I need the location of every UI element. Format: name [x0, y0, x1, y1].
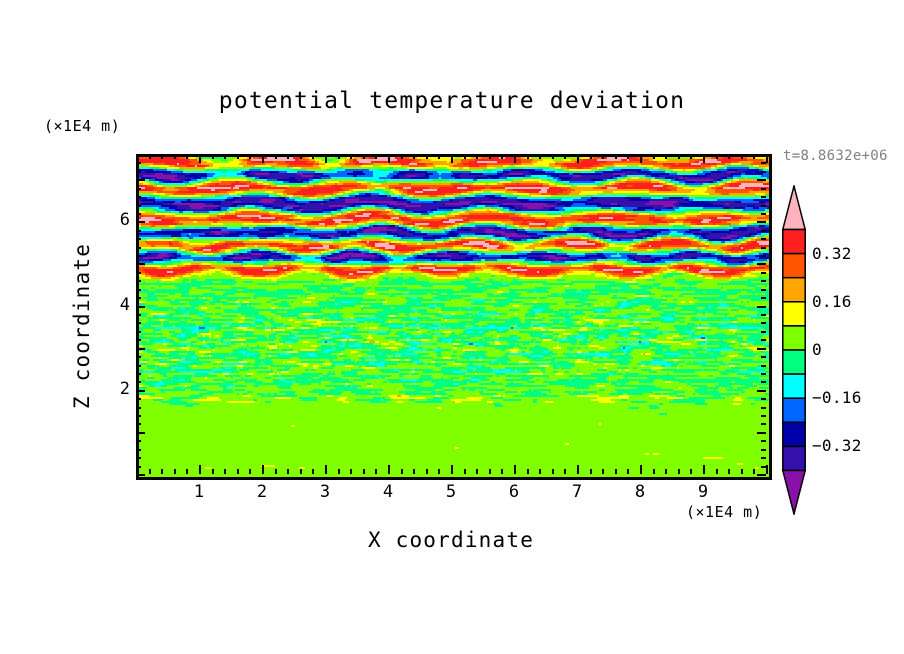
x-tick-top [501, 154, 503, 159]
colorbar-tick-label: 0.32 [812, 244, 852, 263]
x-tick [224, 469, 226, 474]
y-tick-right [757, 179, 766, 181]
x-tick [212, 469, 214, 474]
y-tick [136, 263, 145, 265]
x-tick [300, 469, 302, 474]
x-tick [199, 465, 201, 474]
x-tick-top [577, 154, 579, 163]
x-tick [577, 465, 579, 474]
colorbar-tick-label: −0.16 [812, 388, 862, 407]
x-tick [312, 469, 314, 474]
x-tick [237, 469, 239, 474]
y-tick-right [761, 423, 766, 425]
x-tick-top [186, 154, 188, 159]
x-axis-unit-label: (×1E4 m) [686, 503, 762, 521]
x-tick-top [678, 154, 680, 159]
x-tick-top [224, 154, 226, 159]
y-tick-right [757, 263, 766, 265]
y-tick-right [757, 474, 766, 476]
x-tick [401, 469, 403, 474]
x-tick-top [174, 154, 176, 159]
x-tick [640, 465, 642, 474]
y-tick [136, 398, 141, 400]
x-tick-label: 4 [373, 482, 403, 502]
y-tick [136, 297, 141, 299]
y-tick [136, 356, 141, 358]
x-tick [678, 469, 680, 474]
x-tick [375, 469, 377, 474]
y-tick-label: 4 [104, 295, 130, 315]
x-tick-top [375, 154, 377, 159]
y-tick [136, 466, 141, 468]
x-tick-top [489, 154, 491, 159]
x-tick [539, 469, 541, 474]
y-tick [136, 331, 141, 333]
z-axis-unit-label: (×1E4 m) [44, 117, 120, 135]
x-tick-top [388, 154, 390, 163]
y-tick [136, 205, 141, 207]
x-tick-top [312, 154, 314, 159]
x-tick [325, 465, 327, 474]
y-tick [136, 339, 141, 341]
x-tick [350, 469, 352, 474]
x-tick-label: 6 [499, 482, 529, 502]
x-tick [615, 469, 617, 474]
x-tick [602, 469, 604, 474]
y-tick-right [761, 205, 766, 207]
y-tick [136, 432, 145, 434]
y-tick-right [761, 322, 766, 324]
y-tick [136, 423, 141, 425]
x-tick [665, 469, 667, 474]
x-tick-top [653, 154, 655, 159]
x-tick-top [690, 154, 692, 159]
x-tick [741, 469, 743, 474]
y-tick [136, 314, 141, 316]
x-tick [161, 469, 163, 474]
x-tick-top [464, 154, 466, 159]
y-tick-right [761, 238, 766, 240]
x-tick-top [275, 154, 277, 159]
y-tick [136, 255, 141, 257]
y-tick-right [761, 457, 766, 459]
y-tick-right [757, 432, 766, 434]
x-tick [527, 469, 529, 474]
x-tick [262, 465, 264, 474]
y-tick [136, 179, 145, 181]
y-tick-right [761, 272, 766, 274]
x-tick [413, 469, 415, 474]
y-tick-right [757, 390, 766, 392]
x-tick-label: 7 [562, 482, 592, 502]
y-tick [136, 247, 141, 249]
x-tick-top [212, 154, 214, 159]
x-tick-top [287, 154, 289, 159]
x-tick-top [426, 154, 428, 159]
x-tick-top [590, 154, 592, 159]
x-tick-top [728, 154, 730, 159]
x-tick-top [363, 154, 365, 159]
y-tick [136, 449, 141, 451]
y-tick-right [761, 356, 766, 358]
x-tick [426, 469, 428, 474]
x-tick-top [149, 154, 151, 159]
y-tick [136, 306, 145, 308]
scalar-field-heatmap [139, 157, 769, 477]
y-tick [136, 162, 141, 164]
y-tick [136, 213, 141, 215]
x-tick-label: 2 [247, 482, 277, 502]
x-tick-top [325, 154, 327, 163]
x-tick [363, 469, 365, 474]
y-axis-title: Z coordinate [70, 226, 94, 426]
x-tick-top [438, 154, 440, 159]
y-tick [136, 221, 145, 223]
y-tick [136, 474, 145, 476]
y-tick-right [757, 221, 766, 223]
page-title: potential temperature deviation [0, 88, 904, 114]
x-tick [249, 469, 251, 474]
y-tick [136, 365, 141, 367]
y-tick-right [761, 247, 766, 249]
x-tick-top [199, 154, 201, 163]
y-tick [136, 272, 141, 274]
x-tick [501, 469, 503, 474]
x-tick-label: 5 [436, 482, 466, 502]
x-tick-label: 3 [310, 482, 340, 502]
x-tick-label: 1 [184, 482, 214, 502]
plot-area[interactable] [136, 154, 772, 480]
x-tick [275, 469, 277, 474]
x-tick [338, 469, 340, 474]
x-tick-top [476, 154, 478, 159]
y-tick-right [757, 306, 766, 308]
x-tick-top [401, 154, 403, 159]
x-tick-top [300, 154, 302, 159]
x-tick-top [766, 154, 768, 163]
y-tick-right [761, 331, 766, 333]
x-tick [728, 469, 730, 474]
x-tick [476, 469, 478, 474]
y-tick [136, 289, 141, 291]
y-tick [136, 322, 141, 324]
colorbar[interactable] [780, 185, 808, 515]
y-tick-right [761, 289, 766, 291]
y-tick-right [761, 188, 766, 190]
x-tick-label: 8 [625, 482, 655, 502]
x-tick [590, 469, 592, 474]
x-tick [388, 465, 390, 474]
colorbar-tick-label: 0.16 [812, 292, 852, 311]
x-tick [627, 469, 629, 474]
y-tick [136, 196, 141, 198]
x-tick-top [741, 154, 743, 159]
x-tick [514, 465, 516, 474]
y-tick [136, 390, 145, 392]
y-tick-right [761, 213, 766, 215]
x-tick-top [527, 154, 529, 159]
x-tick [703, 465, 705, 474]
y-tick-right [761, 381, 766, 383]
y-tick-right [761, 280, 766, 282]
y-tick-label: 2 [104, 379, 130, 399]
x-tick [186, 469, 188, 474]
x-tick [464, 469, 466, 474]
y-tick-right [761, 398, 766, 400]
y-tick-right [761, 407, 766, 409]
x-tick-top [640, 154, 642, 163]
y-tick-right [761, 297, 766, 299]
x-tick-top [262, 154, 264, 163]
y-tick-right [761, 171, 766, 173]
y-tick [136, 280, 141, 282]
x-tick-label: 9 [688, 482, 718, 502]
colorbar-gradient [780, 185, 808, 515]
time-annotation: t=8.8632e+06 [783, 148, 888, 164]
y-tick-right [761, 440, 766, 442]
x-tick-top [665, 154, 667, 159]
x-tick [766, 465, 768, 474]
y-tick-right [761, 415, 766, 417]
x-tick-top [716, 154, 718, 159]
x-tick-top [350, 154, 352, 159]
x-tick [438, 469, 440, 474]
x-tick-top [539, 154, 541, 159]
y-tick [136, 238, 141, 240]
x-tick [451, 465, 453, 474]
y-tick-right [761, 154, 766, 156]
x-tick-top [161, 154, 163, 159]
x-tick-top [237, 154, 239, 159]
y-tick [136, 188, 141, 190]
y-tick [136, 381, 141, 383]
y-tick [136, 440, 141, 442]
x-tick [564, 469, 566, 474]
x-tick-top [413, 154, 415, 159]
y-tick-right [761, 339, 766, 341]
y-tick-right [761, 314, 766, 316]
x-tick-top [564, 154, 566, 159]
y-tick [136, 415, 141, 417]
y-tick [136, 171, 141, 173]
contour-plot-figure: potential temperature deviation (×1E4 m)… [0, 0, 904, 654]
x-tick-top [753, 154, 755, 159]
x-tick-top [338, 154, 340, 159]
x-tick [287, 469, 289, 474]
y-tick-right [761, 230, 766, 232]
x-tick-top [552, 154, 554, 159]
x-tick [716, 469, 718, 474]
x-tick-top [451, 154, 453, 163]
y-tick [136, 230, 141, 232]
x-axis-title: X coordinate [136, 528, 766, 552]
x-tick-top [703, 154, 705, 163]
x-tick-top [249, 154, 251, 159]
colorbar-tick-label: −0.32 [812, 436, 862, 455]
y-tick [136, 407, 141, 409]
x-tick-top [627, 154, 629, 159]
x-tick-top [514, 154, 516, 163]
x-tick-top [615, 154, 617, 159]
y-tick [136, 457, 141, 459]
x-tick [489, 469, 491, 474]
y-tick-right [761, 466, 766, 468]
x-tick-top [602, 154, 604, 159]
y-tick-right [761, 373, 766, 375]
x-tick [149, 469, 151, 474]
y-tick [136, 154, 141, 156]
x-tick [552, 469, 554, 474]
y-tick [136, 348, 145, 350]
x-tick [653, 469, 655, 474]
y-tick-right [757, 348, 766, 350]
y-tick-label: 6 [104, 210, 130, 230]
y-tick-right [761, 162, 766, 164]
y-tick-right [761, 255, 766, 257]
x-tick [753, 469, 755, 474]
colorbar-tick-label: 0 [812, 340, 822, 359]
y-tick-right [761, 196, 766, 198]
y-tick-right [761, 365, 766, 367]
x-tick [690, 469, 692, 474]
y-tick [136, 373, 141, 375]
x-tick [174, 469, 176, 474]
y-tick-right [761, 449, 766, 451]
